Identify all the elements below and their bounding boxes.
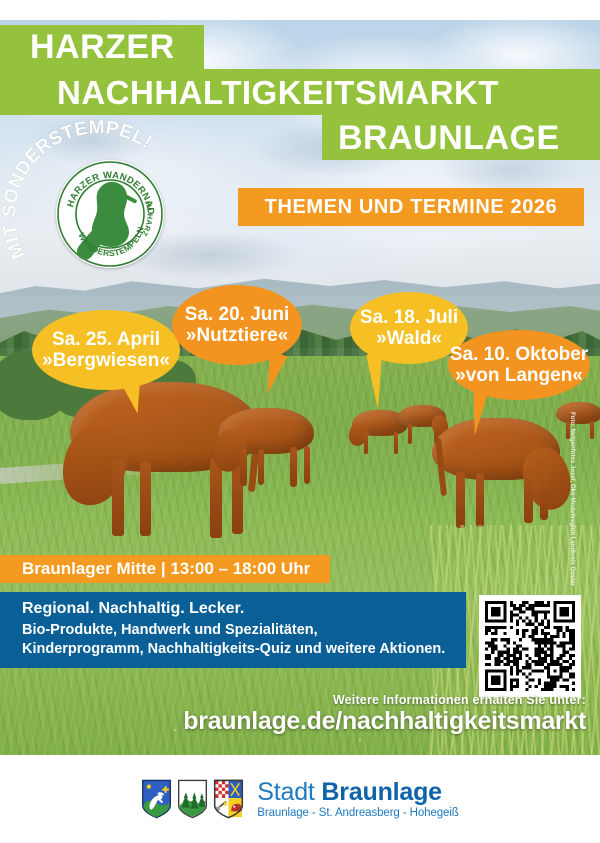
info-line-2: Kinderprogramm, Nachhaltigkeits-Quiz und… <box>22 640 466 659</box>
wordmark-light: Stadt <box>257 778 321 806</box>
info-headline: Regional. Nachhaltig. Lecker. <box>22 600 466 618</box>
crest-braunlage-icon <box>141 779 172 819</box>
cow-leg <box>394 432 398 454</box>
cow-leg <box>304 446 310 484</box>
cow-leg <box>540 470 548 520</box>
cow-leg <box>476 473 484 527</box>
wordmark-subline: Braunlage - St. Andreasberg - Hohegeiß <box>257 807 458 819</box>
info-line-1: Bio-Produkte, Handwerk und Spezialitäten… <box>22 621 466 640</box>
cow-leg <box>112 460 124 536</box>
cow-leg <box>240 448 247 486</box>
date-bubble-2-date: Sa. 20. Juni <box>185 304 290 325</box>
badge-emblem: HARZER WANDERNADEL WANDERSTEMPELN IM HAR… <box>56 160 164 268</box>
cow-midground <box>218 408 314 454</box>
photo-credit: Foto: Nelgenfotos Josef, Öko-Modellregio… <box>563 412 575 582</box>
title-line-1: HARZER <box>30 30 175 64</box>
cow-leg <box>590 421 594 439</box>
url-prelude: Weitere Informationen erhalten Sie unter… <box>0 693 586 707</box>
cow-leg <box>290 447 297 487</box>
date-bubble-2[interactable]: Sa. 20. Juni »Nutztiere« <box>172 285 302 365</box>
city-wordmark: Stadt Braunlage Braunlage - St. Andreasb… <box>257 779 458 819</box>
wordmark-title: Stadt Braunlage <box>257 779 458 805</box>
venue-time-text: Braunlager Mitte | 13:00 – 18:00 Uhr <box>22 559 310 579</box>
title-band-2: NACHHALTIGKEITSMARKT <box>0 69 600 115</box>
date-bubble-2-topic: »Nutztiere« <box>186 325 288 346</box>
crest-st-andreasberg-icon <box>177 779 208 819</box>
qr-code-graphic <box>485 601 575 691</box>
sonderstempel-badge: MIT SONDERSTEMPEL! <box>22 128 182 278</box>
coat-of-arms-group <box>141 779 244 819</box>
badge-disc: HARZER WANDERNADEL WANDERSTEMPELN IM HAR… <box>56 160 164 268</box>
date-bubble-1-topic: »Bergwiesen« <box>42 350 170 371</box>
info-box: Regional. Nachhaltig. Lecker. Bio-Produk… <box>0 592 466 668</box>
footer: Stadt Braunlage Braunlage - St. Andreasb… <box>0 755 600 843</box>
cow-leg <box>140 462 151 536</box>
title-band-1: HARZER <box>0 25 204 69</box>
date-bubble-1[interactable]: Sa. 25. April »Bergwiesen« <box>32 310 180 390</box>
venue-time-strip: Braunlager Mitte | 13:00 – 18:00 Uhr <box>0 555 330 583</box>
date-bubble-4-topic: »von Langen« <box>455 365 583 386</box>
title-line-2: NACHHALTIGKEITSMARKT <box>57 76 499 109</box>
title-band-3: BRAUNLAGE <box>322 115 600 160</box>
cow-leg <box>364 432 368 454</box>
date-bubble-1-date: Sa. 25. April <box>52 329 160 350</box>
date-bubble-4[interactable]: Sa. 10. Oktober »von Langen« <box>448 330 590 400</box>
crest-hohegeiss-icon <box>213 779 244 819</box>
date-bubble-3-date: Sa. 18. Juli <box>360 307 458 328</box>
cow-leg <box>524 471 533 523</box>
poster-root: HARZER NACHHALTIGKEITSMARKT BRAUNLAGE TH… <box>0 0 600 843</box>
url-link[interactable]: braunlage.de/nachhaltigkeitsmarkt <box>0 707 586 735</box>
cow-leg <box>258 449 264 485</box>
subtitle-text: THEMEN UND TERMINE 2026 <box>265 196 558 219</box>
title-line-3: BRAUNLAGE <box>338 121 560 155</box>
qr-code[interactable] <box>479 595 581 697</box>
wordmark-bold: Braunlage <box>321 778 441 806</box>
cow-leg <box>408 424 412 444</box>
url-block[interactable]: Weitere Informationen erhalten Sie unter… <box>0 693 600 735</box>
date-bubble-4-date: Sa. 10. Oktober <box>450 344 588 365</box>
date-bubble-3-topic: »Wald« <box>376 328 442 349</box>
cow-right <box>432 418 560 480</box>
cow-leg <box>456 472 465 528</box>
subtitle-bar: THEMEN UND TERMINE 2026 <box>238 188 584 226</box>
